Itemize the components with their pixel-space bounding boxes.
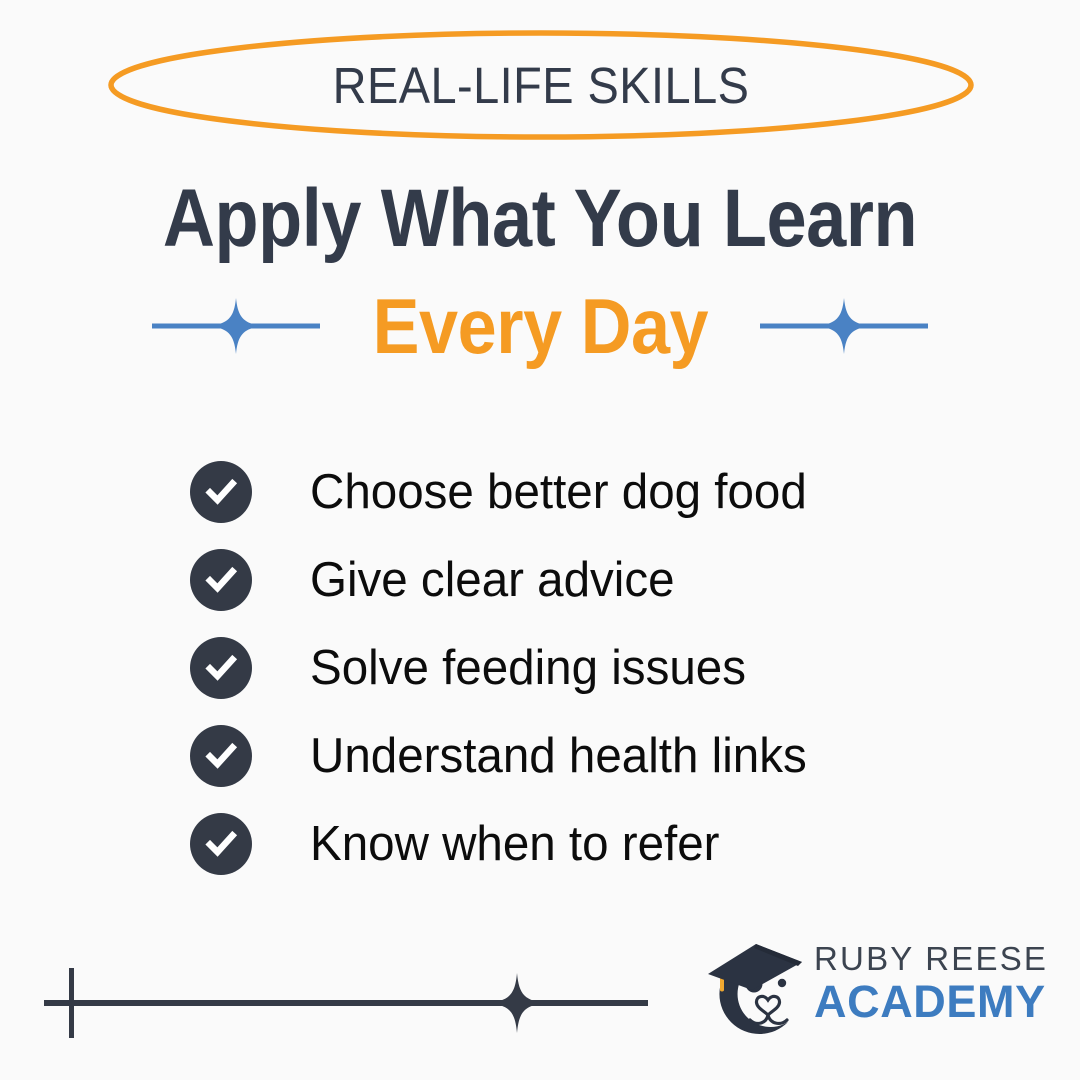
list-item-label: Know when to refer: [310, 820, 720, 869]
page-subtitle: Every Day: [372, 287, 708, 365]
brand-name-secondary: ACADEMY: [814, 978, 1034, 1025]
divider-left: [152, 296, 320, 356]
list-item: Solve feeding issues: [190, 624, 950, 712]
dog-graduation-cap-icon: [702, 936, 814, 1040]
list-item-label: Give clear advice: [310, 556, 675, 605]
brand-wordmark: RUBY REESE ACADEMY: [814, 940, 1034, 1026]
check-circle-icon: [190, 637, 252, 699]
footer-rule: [44, 1000, 648, 1006]
subtitle-row: Every Day: [0, 276, 1080, 376]
sparkle-four-point-icon: [208, 298, 264, 354]
list-item: Give clear advice: [190, 536, 950, 624]
sparkle-four-point-icon: [816, 298, 872, 354]
sparkle-four-point-icon: [487, 973, 547, 1033]
list-item: Know when to refer: [190, 800, 950, 888]
list-item-label: Choose better dog food: [310, 468, 807, 517]
list-item: Understand health links: [190, 712, 950, 800]
check-circle-icon: [190, 461, 252, 523]
page-title: Apply What You Learn: [65, 178, 1015, 260]
list-item-label: Solve feeding issues: [310, 644, 746, 693]
brand-name-primary: RUBY REESE: [814, 940, 1034, 978]
check-circle-icon: [190, 813, 252, 875]
badge-eyebrow: REAL-LIFE SKILLS: [108, 30, 974, 140]
list-item-label: Understand health links: [310, 732, 807, 781]
list-item: Choose better dog food: [190, 448, 950, 536]
check-circle-icon: [190, 549, 252, 611]
brand-logo: RUBY REESE ACADEMY: [702, 936, 1032, 1040]
benefits-checklist: Choose better dog food Give clear advice…: [190, 448, 950, 888]
footer-rule-tick: [69, 968, 74, 1038]
eyebrow-text: REAL-LIFE SKILLS: [143, 30, 940, 140]
check-circle-icon: [190, 725, 252, 787]
divider-right: [760, 296, 928, 356]
